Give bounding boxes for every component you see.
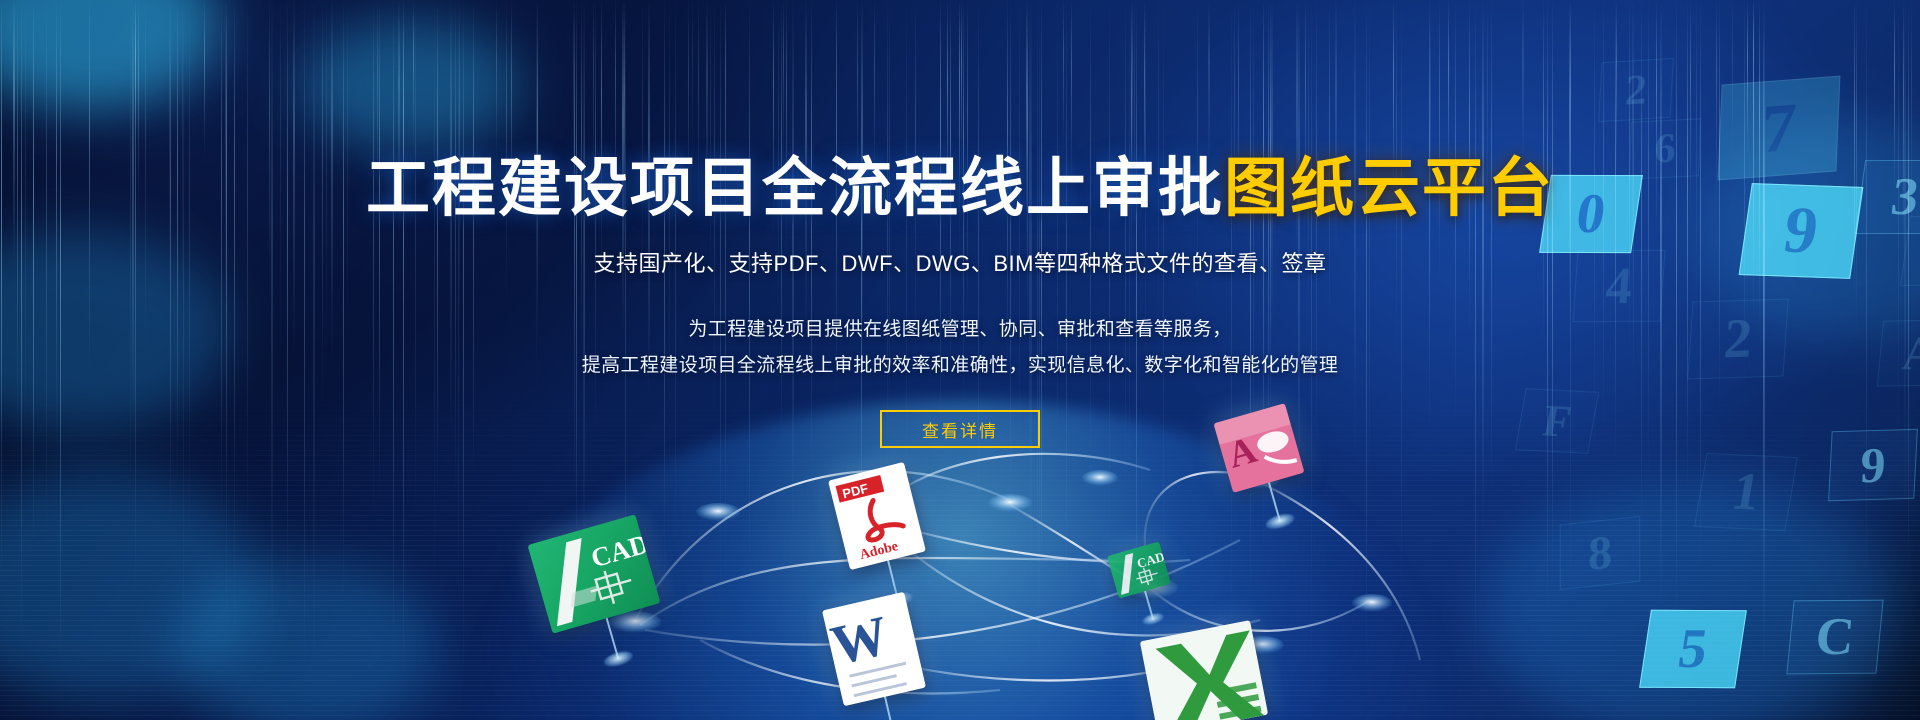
view-details-button[interactable]: 查看详情: [880, 410, 1040, 448]
page-subtitle: 支持国产化、支持PDF、DWF、DWG、BIM等四种格式文件的查看、签章: [594, 246, 1327, 278]
page-title-highlight: 图纸云平台: [1224, 152, 1554, 224]
page-title: 工程建设项目全流程线上审批图纸云平台: [366, 156, 1554, 220]
description-line-2: 提高工程建设项目全流程线上审批的效率和准确性，实现信息化、数字化和智能化的管理: [582, 348, 1339, 384]
page-title-plain: 工程建设项目全流程线上审批: [366, 152, 1224, 224]
hero-banner: 079306429185CFA2: [0, 0, 1920, 720]
page-description: 为工程建设项目提供在线图纸管理、协同、审批和查看等服务， 提高工程建设项目全流程…: [582, 312, 1339, 384]
description-line-1: 为工程建设项目提供在线图纸管理、协同、审批和查看等服务，: [582, 312, 1339, 348]
hero-content: 工程建设项目全流程线上审批图纸云平台 支持国产化、支持PDF、DWF、DWG、B…: [0, 0, 1920, 720]
